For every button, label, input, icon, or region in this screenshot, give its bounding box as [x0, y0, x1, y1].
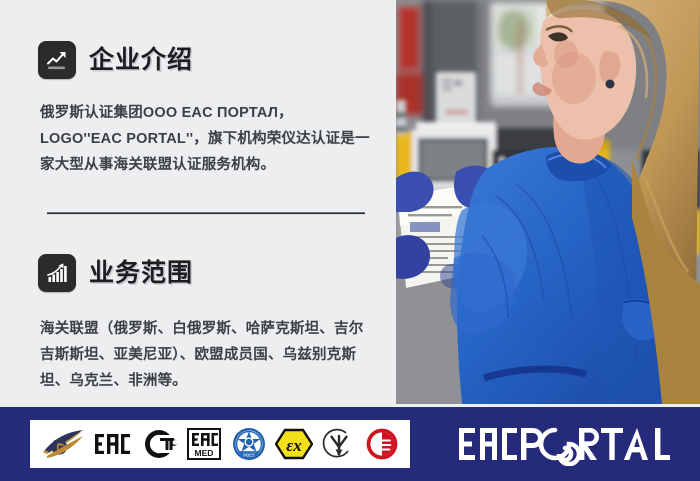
eac-mark	[94, 425, 132, 463]
svg-text:ɛx: ɛx	[286, 436, 302, 455]
factory-worker-photo	[396, 0, 700, 404]
eac-med-mark: MED	[186, 425, 222, 463]
promo-banner: 企业介绍 俄罗斯认证集团OOO EAC ПОРТАЛ，LOGO''EAC POR…	[0, 0, 700, 481]
section-divider	[47, 212, 365, 215]
left-content: 企业介绍 俄罗斯认证集团OOO EAC ПОРТАЛ，LOGO''EAC POR…	[0, 0, 396, 404]
section-title: 企业介绍	[89, 48, 193, 73]
line-chart-up-icon	[38, 41, 76, 79]
eaeu-bird-logo	[41, 425, 85, 463]
gost-r-tr-mark	[141, 425, 177, 463]
red-circle-mark	[365, 425, 399, 463]
atex-ex-mark: ɛx	[275, 425, 313, 463]
section-title: 业务范围	[89, 261, 193, 286]
bar-chart-growth-icon	[38, 254, 76, 292]
certification-bar: MED PОСТ ɛx	[0, 407, 700, 481]
eac-portal-logo	[457, 423, 673, 465]
rostest-star-mark: PОСТ	[232, 425, 266, 463]
business-scope-paragraph: 海关联盟（俄罗斯、白俄罗斯、哈萨克斯坦、吉尔吉斯斯坦、亚美尼亚）、欧盟成员国、乌…	[40, 316, 370, 394]
company-intro-paragraph: 俄罗斯认证集团OOO EAC ПОРТАЛ，LOGO''EAC PORTAL''…	[40, 100, 370, 178]
svg-text:MED: MED	[195, 448, 214, 458]
section-header-business-scope: 业务范围	[38, 254, 193, 292]
section-header-company-intro: 企业介绍	[38, 41, 193, 79]
ukrsepro-mark	[322, 425, 356, 463]
svg-text:PОСТ: PОСТ	[243, 453, 255, 458]
certification-badge-strip: MED PОСТ ɛx	[30, 420, 410, 468]
